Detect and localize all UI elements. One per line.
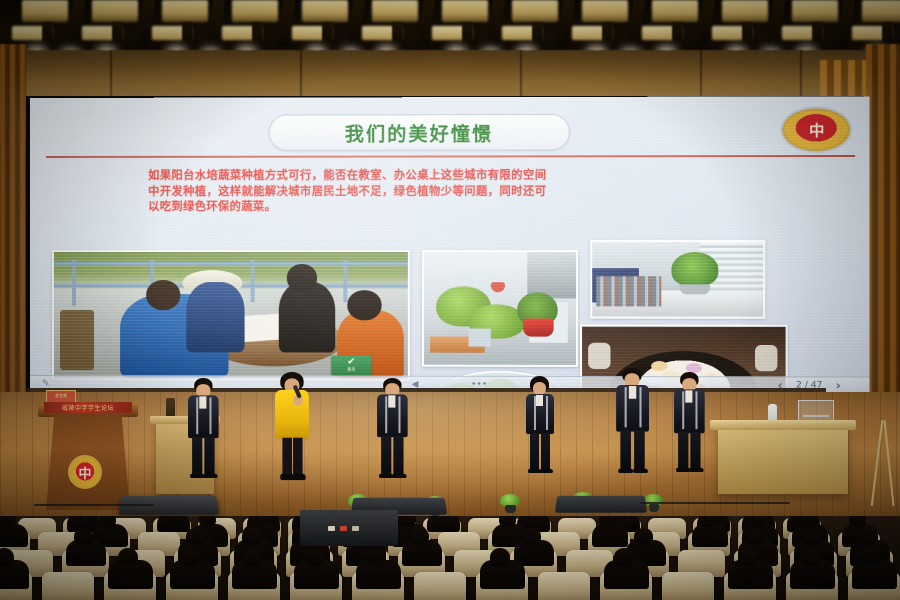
slide-play-button[interactable]: ✔ 播放: [331, 355, 371, 375]
audience-seat: [538, 572, 590, 600]
audience-member: [427, 516, 460, 532]
audience-head: [799, 516, 816, 527]
audience-member: [157, 516, 190, 532]
audience-head: [634, 528, 652, 545]
audience-head: [99, 516, 116, 527]
podium-banner-text: 威陵中学学生论坛: [62, 403, 114, 412]
audience-head: [800, 548, 820, 566]
school-emblem-icon: 中: [783, 108, 850, 151]
side-table-right: [718, 428, 848, 494]
stage-cable-2: [640, 502, 790, 504]
stage-monitor-right: [555, 496, 647, 513]
slide-title-pill: 我们的美好憧憬: [269, 114, 570, 151]
audience-head: [366, 548, 386, 566]
auditorium-scene: 我们的美好憧憬 中 如果阳台水培蔬菜种植方式可行，能否在教室、办公桌上这些城市有…: [0, 0, 900, 600]
audience-head: [862, 548, 882, 566]
audience-head: [499, 516, 516, 527]
audience-head: [599, 516, 616, 527]
emblem-glyph: 中: [809, 119, 823, 140]
podium-plate-text: 发言席: [47, 391, 75, 400]
slide-photo-hydroponic-vegetables: [422, 250, 578, 367]
audience-head: [749, 516, 766, 527]
podium-emblem-icon: 中: [68, 455, 102, 489]
audience-head: [746, 528, 764, 545]
audience-seating: [0, 516, 900, 600]
podium-emblem-glyph: 中: [78, 463, 91, 482]
audience-head: [399, 516, 416, 527]
audience-head: [199, 516, 216, 527]
audience-member: [592, 524, 628, 547]
audience-head: [858, 528, 876, 545]
audience-head: [249, 516, 266, 527]
audience-head: [410, 528, 428, 545]
audience-head: [304, 548, 324, 566]
audience-head: [849, 516, 866, 527]
audience-head: [0, 548, 14, 566]
audience-head: [802, 528, 820, 545]
audience-seat: [42, 572, 94, 600]
slide-photo-office-desk-plant: [590, 240, 765, 319]
audience-head: [242, 548, 262, 566]
audience-member: [0, 524, 28, 547]
audience-seat: [414, 572, 466, 600]
audience-head: [738, 548, 758, 566]
slide-title-rule: [46, 155, 855, 158]
audience-head: [614, 548, 634, 566]
audience-member: [692, 524, 728, 547]
audience-head: [522, 528, 540, 545]
stage-cable-1: [34, 504, 154, 506]
audience-head: [0, 516, 16, 527]
audience-seat: [662, 572, 714, 600]
podium-banner: 威陵中学学生论坛: [44, 402, 132, 413]
audience-head: [118, 548, 138, 566]
audience-head: [74, 528, 92, 545]
audience-head: [699, 516, 716, 527]
audience-head: [242, 528, 260, 545]
slide-body-text: 如果阳台水培蔬菜种植方式可行，能否在教室、办公桌上这些城市有限的空间中开发种植，…: [148, 167, 546, 214]
check-icon: ✔: [347, 358, 355, 366]
slide-title: 我们的美好憧憬: [345, 119, 494, 146]
next-slide-button[interactable]: ›: [836, 378, 841, 392]
audience-head: [186, 528, 204, 545]
audience-head: [180, 548, 200, 566]
projector-unit: [300, 510, 398, 546]
projected-slide[interactable]: 我们的美好憧憬 中 如果阳台水培蔬菜种植方式可行，能否在教室、办公桌上这些城市有…: [30, 96, 869, 393]
slide-play-label: 播放: [347, 367, 356, 373]
audience-head: [490, 548, 510, 566]
